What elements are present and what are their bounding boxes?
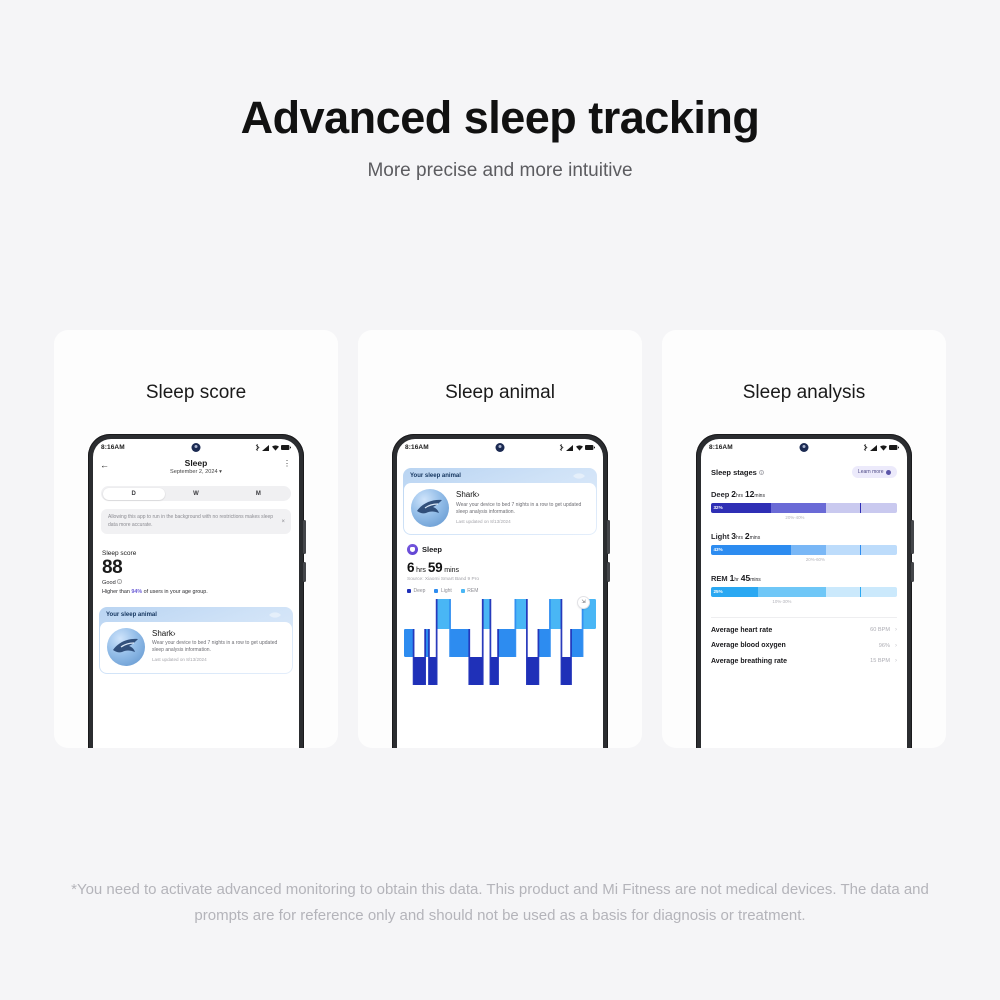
card-title: Sleep animal [358,382,642,404]
kebab-menu-icon[interactable]: ⋮ [283,460,291,467]
status-bar: 8:16AM [701,439,907,456]
legend-item-deep: Deep [407,588,425,594]
volume-button[interactable] [607,520,610,554]
stage-normal-range: 20%-60% [711,557,897,562]
metric-row-heart-rate[interactable]: Average heart rate 60 BPM› [711,618,897,634]
status-time: 8:16AM [405,444,429,451]
volume-button[interactable] [303,520,306,554]
sleep-section-header: Sleep [407,544,603,555]
fish-decoration-icon [572,472,586,480]
front-camera-icon [800,443,809,452]
bluetooth-icon [255,444,260,451]
legend-swatch-deep [407,589,411,593]
page-title: Advanced sleep tracking [0,92,1000,144]
sleep-animal-header: Your sleep animal [404,469,596,483]
front-camera-icon [192,443,201,452]
sleep-animal-body: Shark› Wear your device to bed 7 nights … [100,622,292,673]
card-title: Sleep analysis [662,382,946,404]
sleep-score-comparison: Higher than 94% of users in your age gro… [102,589,290,595]
stage-row-rem: REM 1hr 45mins 25% 10%-30% [711,573,897,604]
sleep-hours: 6 [407,560,414,575]
screen-title: Sleep [93,456,299,468]
chevron-right-icon: › [173,629,176,638]
animal-name[interactable]: Shark› [152,628,285,638]
signal-icon [870,445,877,451]
sleep-animal-card[interactable]: Your sleep animal Shark› Wear your devic… [403,468,597,535]
chevron-right-icon: › [895,643,897,649]
page-subtitle: More precise and more intuitive [0,160,1000,182]
hypnogram-svg [404,599,596,685]
banner-text: Allowing this app to run in the backgrou… [108,514,275,529]
sleep-data-source: Source: Xiaomi Smart Band 9 Pro [407,577,603,582]
stage-row-deep: Deep 2hrs 12mins 32% 20%-40% [711,489,897,520]
period-segmented-control[interactable]: D W M [101,486,291,501]
phone-mockup-sleep-score: 8:16AM ← Sleep September 2, 2024 ▾ [88,434,304,748]
legend-swatch-light [434,589,438,593]
eye-icon [886,470,891,475]
stage-minutes-unit: mins [750,577,761,583]
date-selector[interactable]: September 2, 2024 ▾ [93,469,299,475]
stage-bar: 43% [711,545,897,555]
stage-bar-target-tick [860,503,861,513]
animal-last-updated: Last updated on 8/13/2024 [152,657,285,662]
metric-label: Average breathing rate [711,658,787,665]
power-button[interactable] [303,562,306,582]
sleep-stages-title: Sleep stagesi [711,468,764,477]
card-sleep-animal: Sleep animal 8:16AM [358,330,642,748]
stage-heading: REM 1hr 45mins [711,573,897,583]
legend-item-rem: REM [461,588,479,594]
stage-hours-unit: hr [734,577,738,583]
phone-mockup-sleep-analysis: 8:16AM Sleep stagesi Learn more [696,434,912,748]
percentile-value: 94% [131,589,142,595]
info-icon[interactable]: i [117,579,122,584]
metric-row-breathing-rate[interactable]: Average breathing rate 15 BPM› [711,649,897,665]
metric-value: 96% [879,643,890,649]
sleep-hours-unit: hrs [416,567,426,574]
chevron-right-icon: › [895,658,897,664]
volume-button[interactable] [911,520,914,554]
phone-screen: 8:16AM Your sleep animal [397,439,603,748]
status-bar: 8:16AM [93,439,299,456]
front-camera-icon [496,443,505,452]
card-sleep-score: Sleep score 8:16AM ← Sleep [54,330,338,748]
stage-minutes-unit: mins [750,535,761,541]
sleep-score-card[interactable]: Sleep score 88 Goodi Higher than 94% of … [93,542,299,601]
back-arrow-icon[interactable]: ← [100,460,109,470]
stage-minutes: 45 [741,573,750,583]
stage-hours-unit: hrs [736,493,743,499]
stage-bar: 32% [711,503,897,513]
chevron-down-icon: ▾ [219,469,222,475]
hypnogram-legend: Deep Light REM [407,588,603,594]
tab-day[interactable]: D [103,488,165,500]
battery-icon [889,445,899,450]
stage-hours-unit: hrs [736,535,743,541]
stage-normal-range: 20%-40% [711,515,897,520]
shark-avatar [411,489,449,527]
status-bar: 8:16AM [397,439,603,456]
info-icon[interactable]: i [759,470,764,475]
sleep-minutes: 59 [428,560,442,575]
phone-screen: 8:16AM Sleep stagesi Learn more [701,439,907,748]
stage-bar-target-tick [860,587,861,597]
bluetooth-icon [559,444,564,451]
wifi-icon [880,445,887,451]
animal-name[interactable]: Shark› [456,489,589,499]
stage-name: Light [711,532,729,541]
stage-bar-fill: 25% [711,587,758,597]
bluetooth-icon [863,444,868,451]
stage-bar-mid [791,545,826,555]
stage-bar-light [826,587,897,597]
status-time: 8:16AM [101,444,125,451]
background-permission-banner: Allowing this app to run in the backgrou… [101,509,291,534]
wifi-icon [576,445,583,451]
metric-value: 60 BPM [870,627,890,633]
sleep-stages-header: Sleep stagesi Learn more [711,466,897,478]
sleep-animal-header: Your sleep animal [100,608,292,622]
status-time: 8:16AM [709,444,733,451]
disclaimer-footer: *You need to activate advanced monitorin… [60,877,940,929]
animal-description: Wear your device to bed 7 nights in a ro… [456,502,589,516]
sleep-duration: 6 hrs 59 mins [407,560,603,575]
close-icon[interactable]: × [281,519,285,525]
stage-bar-fill: 32% [711,503,771,513]
stage-bar: 25% [711,587,897,597]
metric-label: Average blood oxygen [711,642,786,649]
zoom-expand-icon[interactable]: ⇲ [578,597,589,608]
wifi-icon [272,445,279,451]
stage-bar-light [826,503,897,513]
learn-more-button[interactable]: Learn more [852,466,897,478]
signal-icon [566,445,573,451]
sleep-quality-label: Goodi [102,579,290,586]
sleep-score-label: Sleep score [102,550,290,557]
animal-description: Wear your device to bed 7 nights in a ro… [152,640,285,654]
stage-bar-mid [771,503,827,513]
metric-row-blood-oxygen[interactable]: Average blood oxygen 96%› [711,634,897,650]
sleep-bed-icon [407,544,418,555]
card-title: Sleep score [54,382,338,404]
tab-week[interactable]: W [165,488,227,500]
card-sleep-analysis: Sleep analysis 8:16AM Slee [662,330,946,748]
metric-value: 15 BPM [870,658,890,664]
phone-screen: 8:16AM ← Sleep September 2, 2024 ▾ [93,439,299,748]
power-button[interactable] [911,562,914,582]
sleep-score-value: 88 [102,557,290,578]
stage-normal-range: 10%-30% [711,599,897,604]
tab-month[interactable]: M [227,488,289,500]
stage-bar-light [826,545,897,555]
stage-bar-fill: 43% [711,545,791,555]
sleep-section-label: Sleep [422,545,442,554]
shark-avatar [107,628,145,666]
battery-icon [281,445,291,450]
date-label: September 2, 2024 [170,469,218,475]
stage-minutes-unit: mins [754,493,765,499]
stage-heading: Light 3hrs 2mins [711,531,897,541]
phone-mockup-sleep-animal: 8:16AM Your sleep animal [392,434,608,748]
fish-decoration-icon [268,611,282,619]
legend-swatch-rem [461,589,465,593]
stage-name: Deep [711,490,729,499]
power-button[interactable] [607,562,610,582]
hypnogram-chart[interactable]: ⇲ [404,599,596,685]
app-bar: ← Sleep September 2, 2024 ▾ ⋮ [93,456,299,482]
sleep-minutes-unit: mins [444,567,459,574]
stage-bar-target-tick [860,545,861,555]
feature-card-row: Sleep score 8:16AM ← Sleep [54,330,946,748]
stage-minutes: 12 [745,489,754,499]
stage-row-light: Light 3hrs 2mins 43% 20%-60% [711,531,897,562]
stage-heading: Deep 2hrs 12mins [711,489,897,499]
signal-icon [262,445,269,451]
metric-label: Average heart rate [711,627,772,634]
stage-name: REM [711,574,728,583]
sleep-animal-body: Shark› Wear your device to bed 7 nights … [404,483,596,534]
chevron-right-icon: › [895,627,897,633]
sleep-animal-card[interactable]: Your sleep animal Shark› Wear your devic… [99,607,293,674]
battery-icon [585,445,595,450]
stage-bar-mid [758,587,827,597]
legend-item-light: Light [434,588,451,594]
chevron-right-icon: › [477,490,480,499]
animal-last-updated: Last updated on 8/13/2024 [456,519,589,524]
